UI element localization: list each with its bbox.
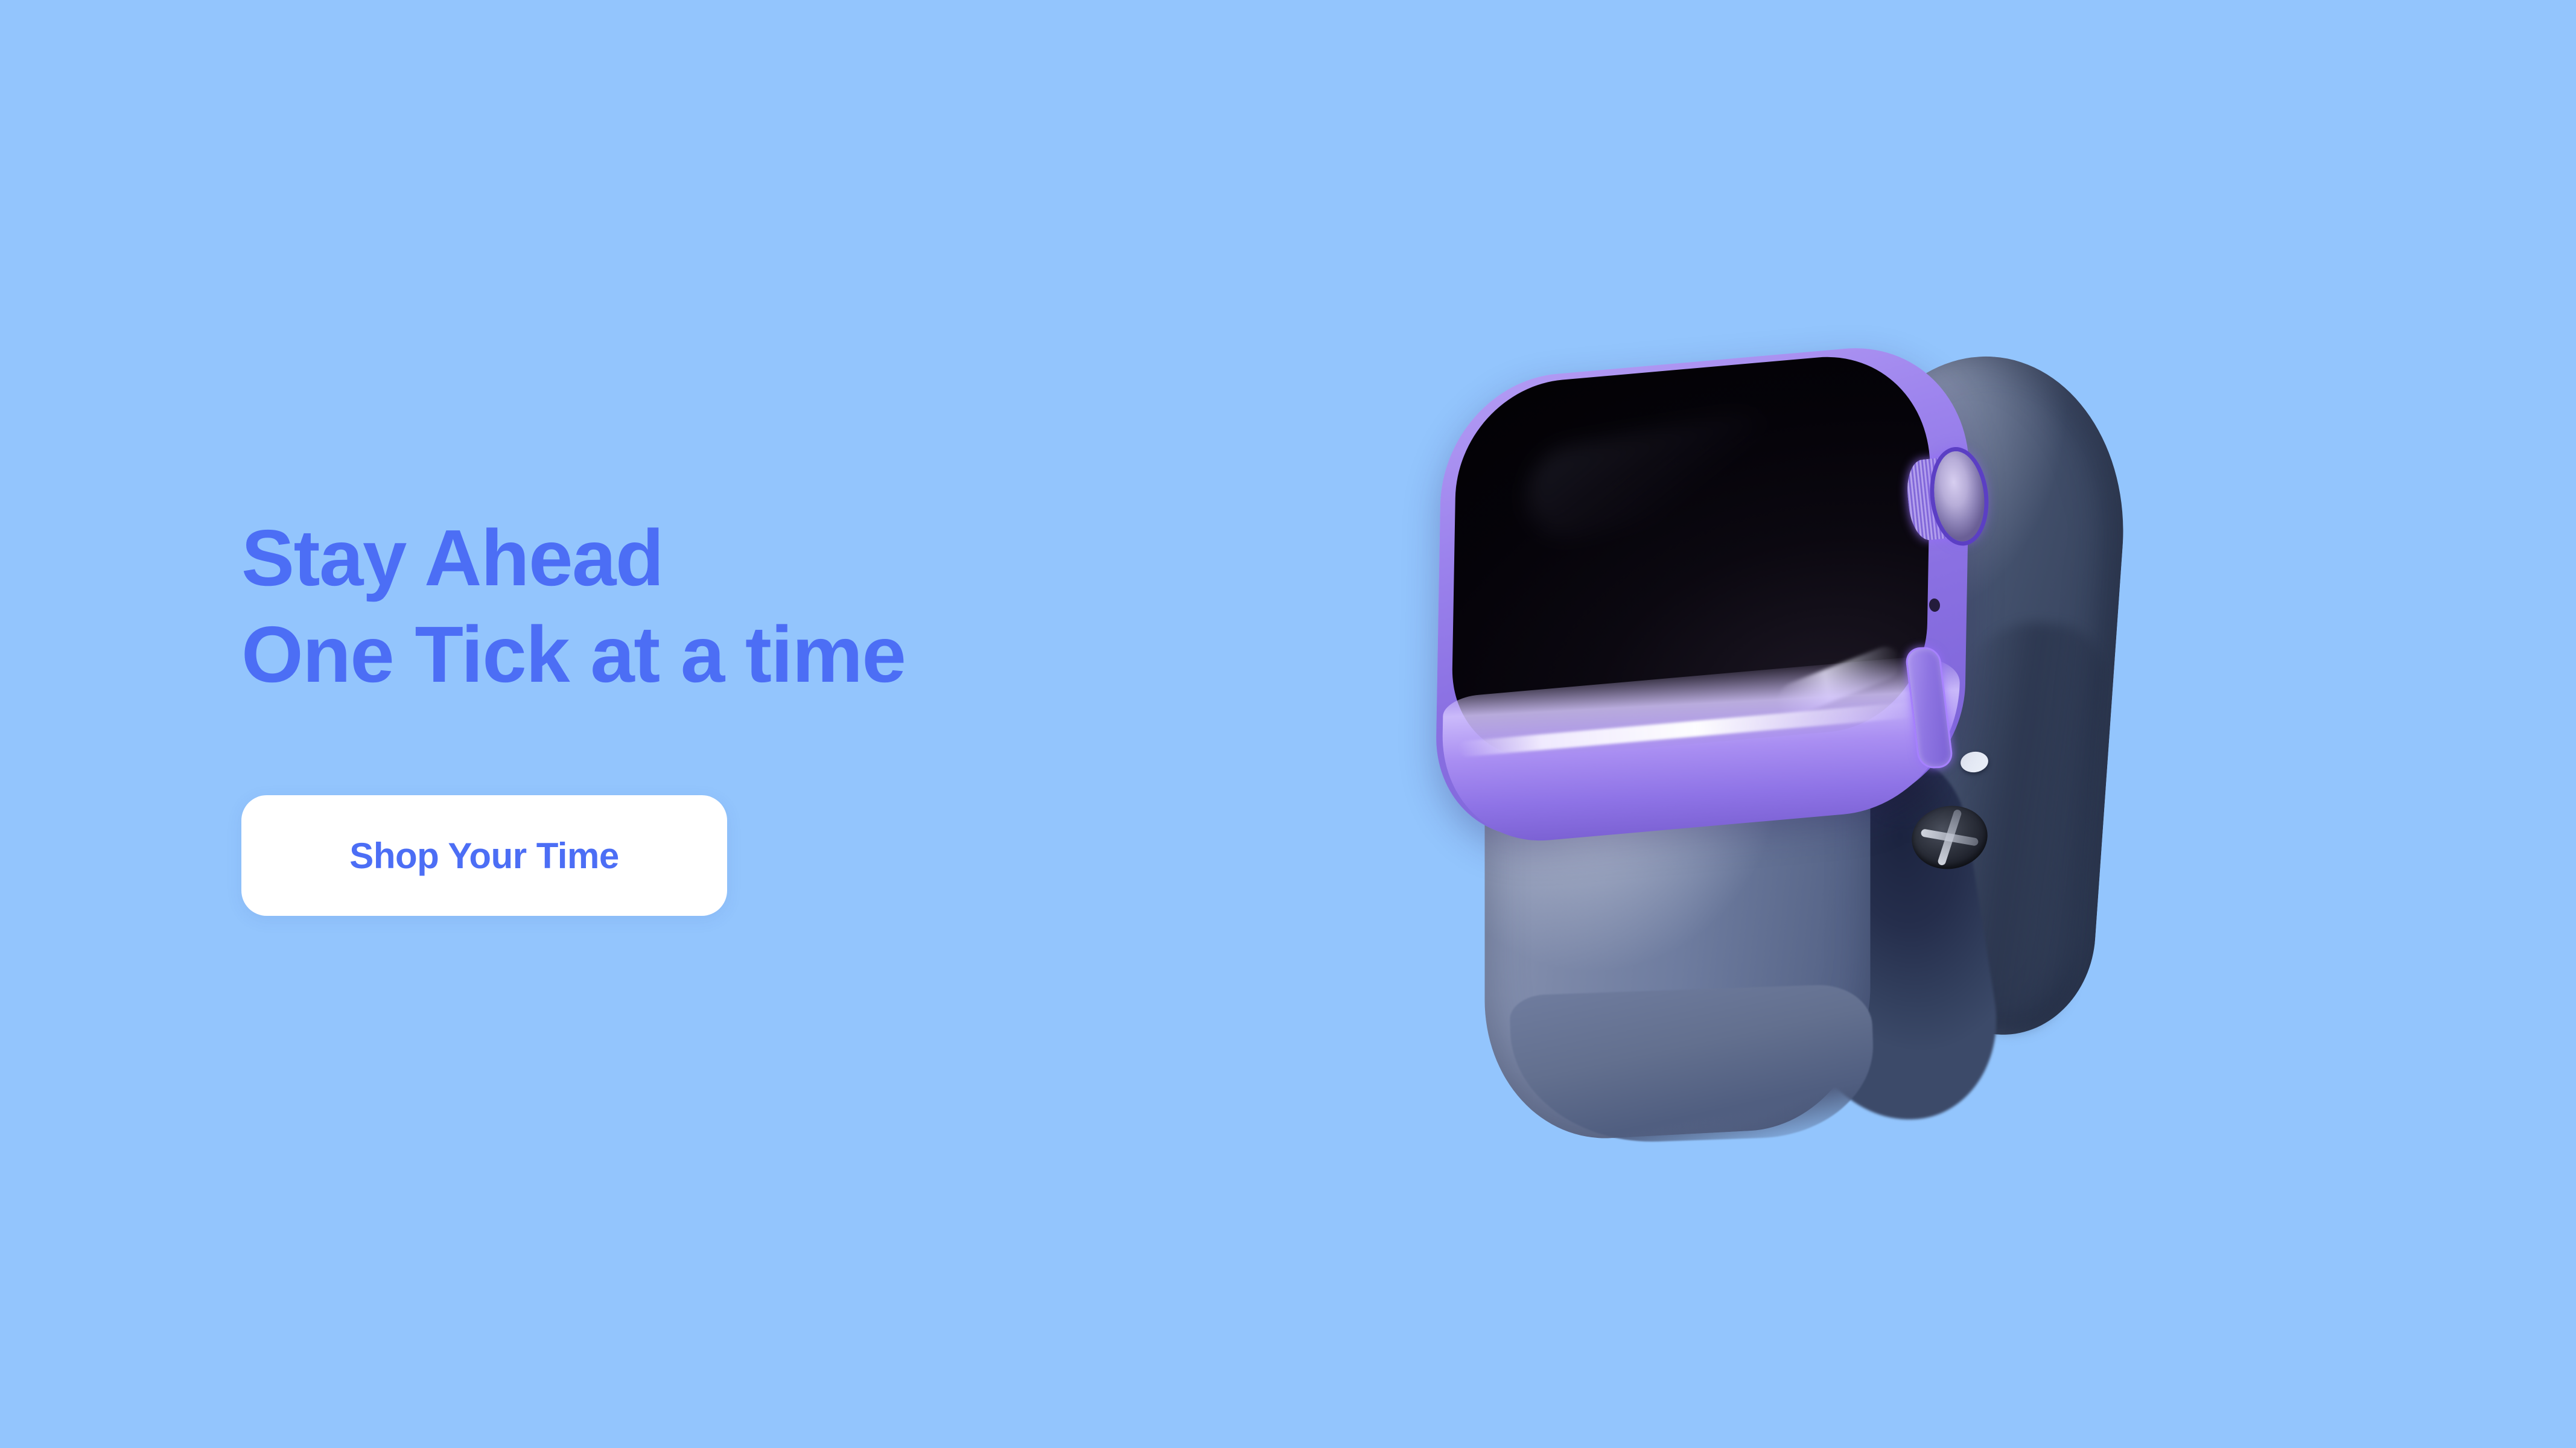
watch-composition xyxy=(1406,338,2209,1158)
hero-banner: Stay Ahead One Tick at a time Shop Your … xyxy=(0,0,2576,1448)
hero-copy-block: Stay Ahead One Tick at a time xyxy=(241,510,1328,703)
smartwatch-product-image xyxy=(1406,338,2209,1158)
screen-ambient-reflection xyxy=(1524,406,1784,544)
shop-your-time-button[interactable]: Shop Your Time xyxy=(241,795,727,916)
headline-line-2: One Tick at a time xyxy=(241,606,1328,703)
headline-line-1: Stay Ahead xyxy=(241,510,1328,606)
page-title: Stay Ahead One Tick at a time xyxy=(241,510,1328,703)
digital-crown xyxy=(1904,449,1989,547)
